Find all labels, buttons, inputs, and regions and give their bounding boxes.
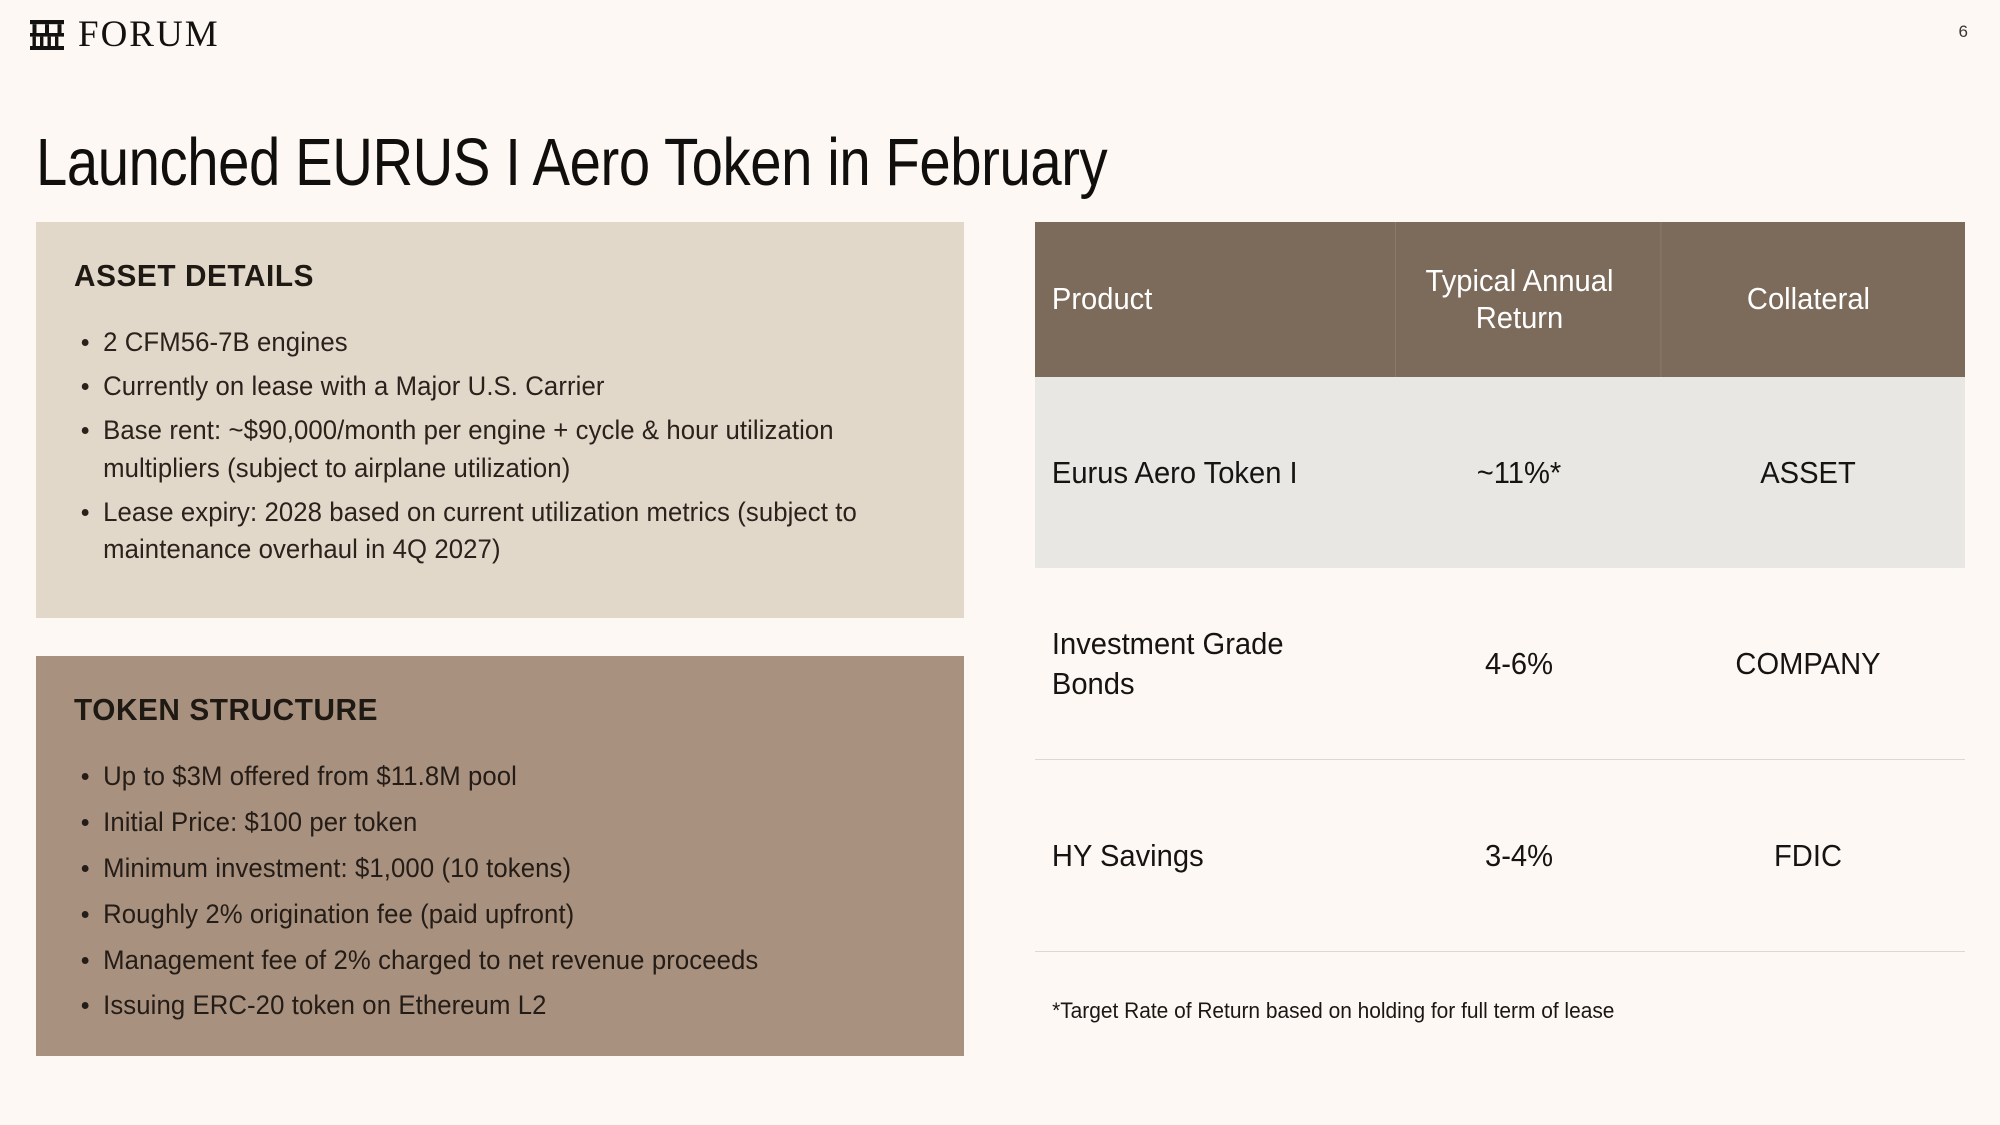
cell-return: 3-4%: [1395, 760, 1643, 951]
list-item: Initial Price: $100 per token: [74, 804, 900, 842]
table-header-row: Product Typical Annual Return Collateral: [1035, 222, 1965, 377]
cell-collateral: FDIC: [1660, 760, 1955, 951]
comparison-table: Product Typical Annual Return Collateral…: [1035, 222, 1965, 1024]
cell-return: ~11%*: [1395, 377, 1643, 568]
table-row: Investment Grade Bonds 4-6% COMPANY: [1035, 568, 1965, 760]
list-item: Minimum investment: $1,000 (10 tokens): [74, 850, 900, 888]
forum-columns-icon: [30, 20, 64, 50]
token-structure-heading: TOKEN STRUCTURE: [74, 692, 892, 728]
cell-product: Eurus Aero Token I: [1035, 377, 1366, 568]
page-title: Launched EURUS I Aero Token in February: [36, 129, 1107, 196]
list-item: Roughly 2% origination fee (paid upfront…: [74, 896, 900, 934]
token-structure-card: TOKEN STRUCTURE Up to $3M offered from $…: [36, 656, 964, 1056]
column-header-return: Typical Annual Return: [1395, 222, 1643, 377]
slide-header: FORUM 6: [0, 0, 2000, 78]
column-header-product: Product: [1035, 222, 1366, 377]
column-header-collateral: Collateral: [1660, 222, 1955, 377]
list-item: Up to $3M offered from $11.8M pool: [74, 758, 900, 796]
page-number: 6: [1959, 22, 1968, 42]
brand-name: FORUM: [78, 16, 220, 53]
table-row: HY Savings 3-4% FDIC: [1035, 760, 1965, 952]
cell-collateral: ASSET: [1660, 377, 1955, 568]
list-item: 2 CFM56-7B engines: [74, 324, 900, 362]
list-item: Currently on lease with a Major U.S. Car…: [74, 368, 900, 406]
left-column: ASSET DETAILS 2 CFM56-7B engines Current…: [36, 222, 964, 1056]
table-row: Eurus Aero Token I ~11%* ASSET: [1035, 377, 1965, 568]
asset-details-list: 2 CFM56-7B engines Currently on lease wi…: [74, 324, 926, 569]
cell-product: HY Savings: [1035, 760, 1366, 951]
cell-return: 4-6%: [1395, 568, 1643, 759]
asset-details-card: ASSET DETAILS 2 CFM56-7B engines Current…: [36, 222, 964, 618]
list-item: Issuing ERC-20 token on Ethereum L2: [74, 987, 900, 1025]
token-structure-list: Up to $3M offered from $11.8M pool Initi…: [74, 758, 926, 1025]
asset-details-heading: ASSET DETAILS: [74, 258, 892, 294]
brand-logo: FORUM: [30, 16, 220, 53]
cell-collateral: COMPANY: [1660, 568, 1955, 759]
list-item: Management fee of 2% charged to net reve…: [74, 942, 900, 980]
cell-product: Investment Grade Bonds: [1035, 568, 1366, 759]
table-footnote: *Target Rate of Return based on holding …: [1035, 998, 1919, 1024]
list-item: Lease expiry: 2028 based on current util…: [74, 494, 900, 570]
list-item: Base rent: ~$90,000/month per engine + c…: [74, 412, 900, 488]
